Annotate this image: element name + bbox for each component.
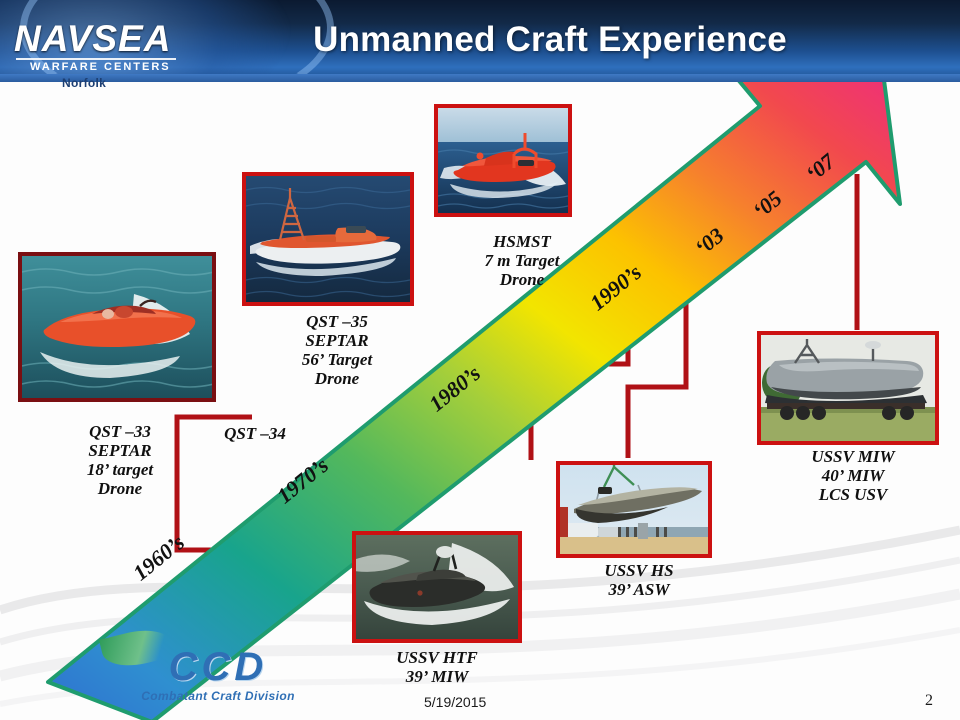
hsmst-photo xyxy=(434,104,572,217)
ussv-hs-caption: USSV HS 39’ ASW xyxy=(564,561,714,599)
navsea-rule xyxy=(16,58,176,60)
ccd-logo: CCD Combatant Craft Division xyxy=(118,645,318,707)
ccd-wordmark: CCD xyxy=(118,645,318,689)
navsea-warfare-centers-label: WARFARE CENTERS xyxy=(30,61,190,73)
header-bottom-accent xyxy=(0,74,960,82)
qst-35-caption: QST –35 SEPTAR 56’ Target Drone xyxy=(262,312,412,388)
ussv-miw-photo xyxy=(757,331,939,445)
ussv-miw-caption: USSV MIW 40’ MIW LCS USV xyxy=(778,447,928,504)
slide: NAVSEA WARFARE CENTERS Norfolk Unmanned … xyxy=(0,0,960,720)
qst-33-photo xyxy=(18,252,216,402)
qst-34-caption: QST –34 xyxy=(190,424,320,443)
ussv-htf-caption: USSV HTF 39’ MIW xyxy=(362,648,512,686)
ccd-tagline: Combatant Craft Division xyxy=(118,689,318,703)
ussv-hs-photo xyxy=(556,461,712,558)
slide-date: 5/19/2015 xyxy=(424,694,486,710)
qst-35-photo xyxy=(242,172,414,306)
page-title: Unmanned Craft Experience xyxy=(200,14,900,66)
navsea-wordmark: NAVSEA xyxy=(14,20,180,57)
hsmst-caption: HSMST 7 m Target Drone xyxy=(452,232,592,289)
navsea-logo: NAVSEA WARFARE CENTERS xyxy=(6,4,186,82)
page-number: 2 xyxy=(925,692,933,710)
qst-33-caption: QST –33 SEPTAR 18’ target Drone xyxy=(40,422,200,498)
ussv-htf-photo xyxy=(352,531,522,643)
